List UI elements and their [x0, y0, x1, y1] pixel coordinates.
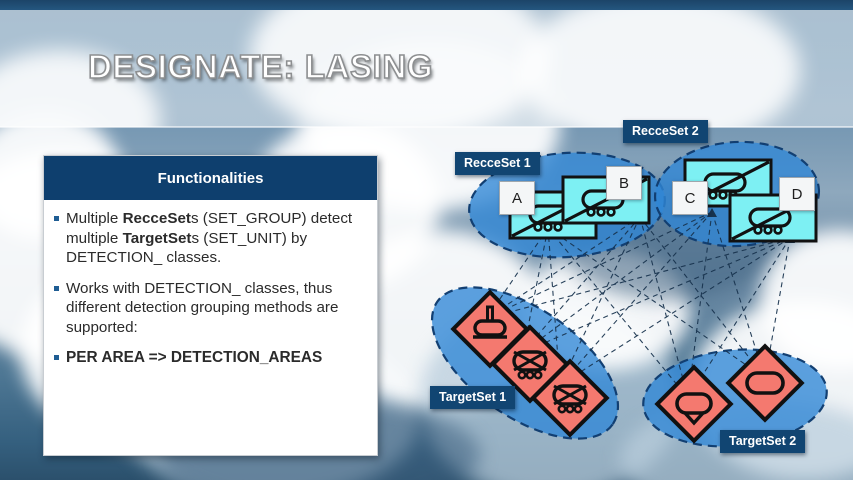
bullet-text: Multiple RecceSets (SET_GROUP) detect mu… [66, 209, 365, 268]
group-label-targetset-1: TargetSet 1 [430, 386, 515, 409]
slide-root: DESIGNATE: LASING [0, 0, 853, 480]
bullet-marker-icon [54, 355, 59, 360]
group-label-recceset-2: RecceSet 2 [623, 120, 708, 143]
group-label-targetset-2: TargetSet 2 [720, 430, 805, 453]
unit-box-a: A [499, 181, 535, 215]
functionalities-panel: Functionalities Multiple RecceSets (SET_… [43, 155, 378, 456]
unit-box-b: B [606, 166, 642, 200]
unit-box-c: C [672, 181, 708, 215]
bullet-marker-icon [54, 216, 59, 221]
bullet-marker-icon [54, 286, 59, 291]
unit-box-d: D [779, 177, 815, 211]
group-label-recceset-1: RecceSet 1 [455, 152, 540, 175]
bullet-multiple-recceset: Multiple RecceSets (SET_GROUP) detect mu… [54, 209, 365, 268]
bullet-text: Works with DETECTION_ classes, thus diff… [66, 279, 365, 338]
bullet-per-area: PER AREA => DETECTION_AREAS [54, 348, 365, 368]
panel-bullet-list: Multiple RecceSets (SET_GROUP) detect mu… [44, 200, 377, 368]
panel-title: Functionalities [44, 156, 377, 200]
bullet-text: PER AREA => DETECTION_AREAS [66, 348, 365, 368]
bullet-detection-classes: Works with DETECTION_ classes, thus diff… [54, 279, 365, 338]
